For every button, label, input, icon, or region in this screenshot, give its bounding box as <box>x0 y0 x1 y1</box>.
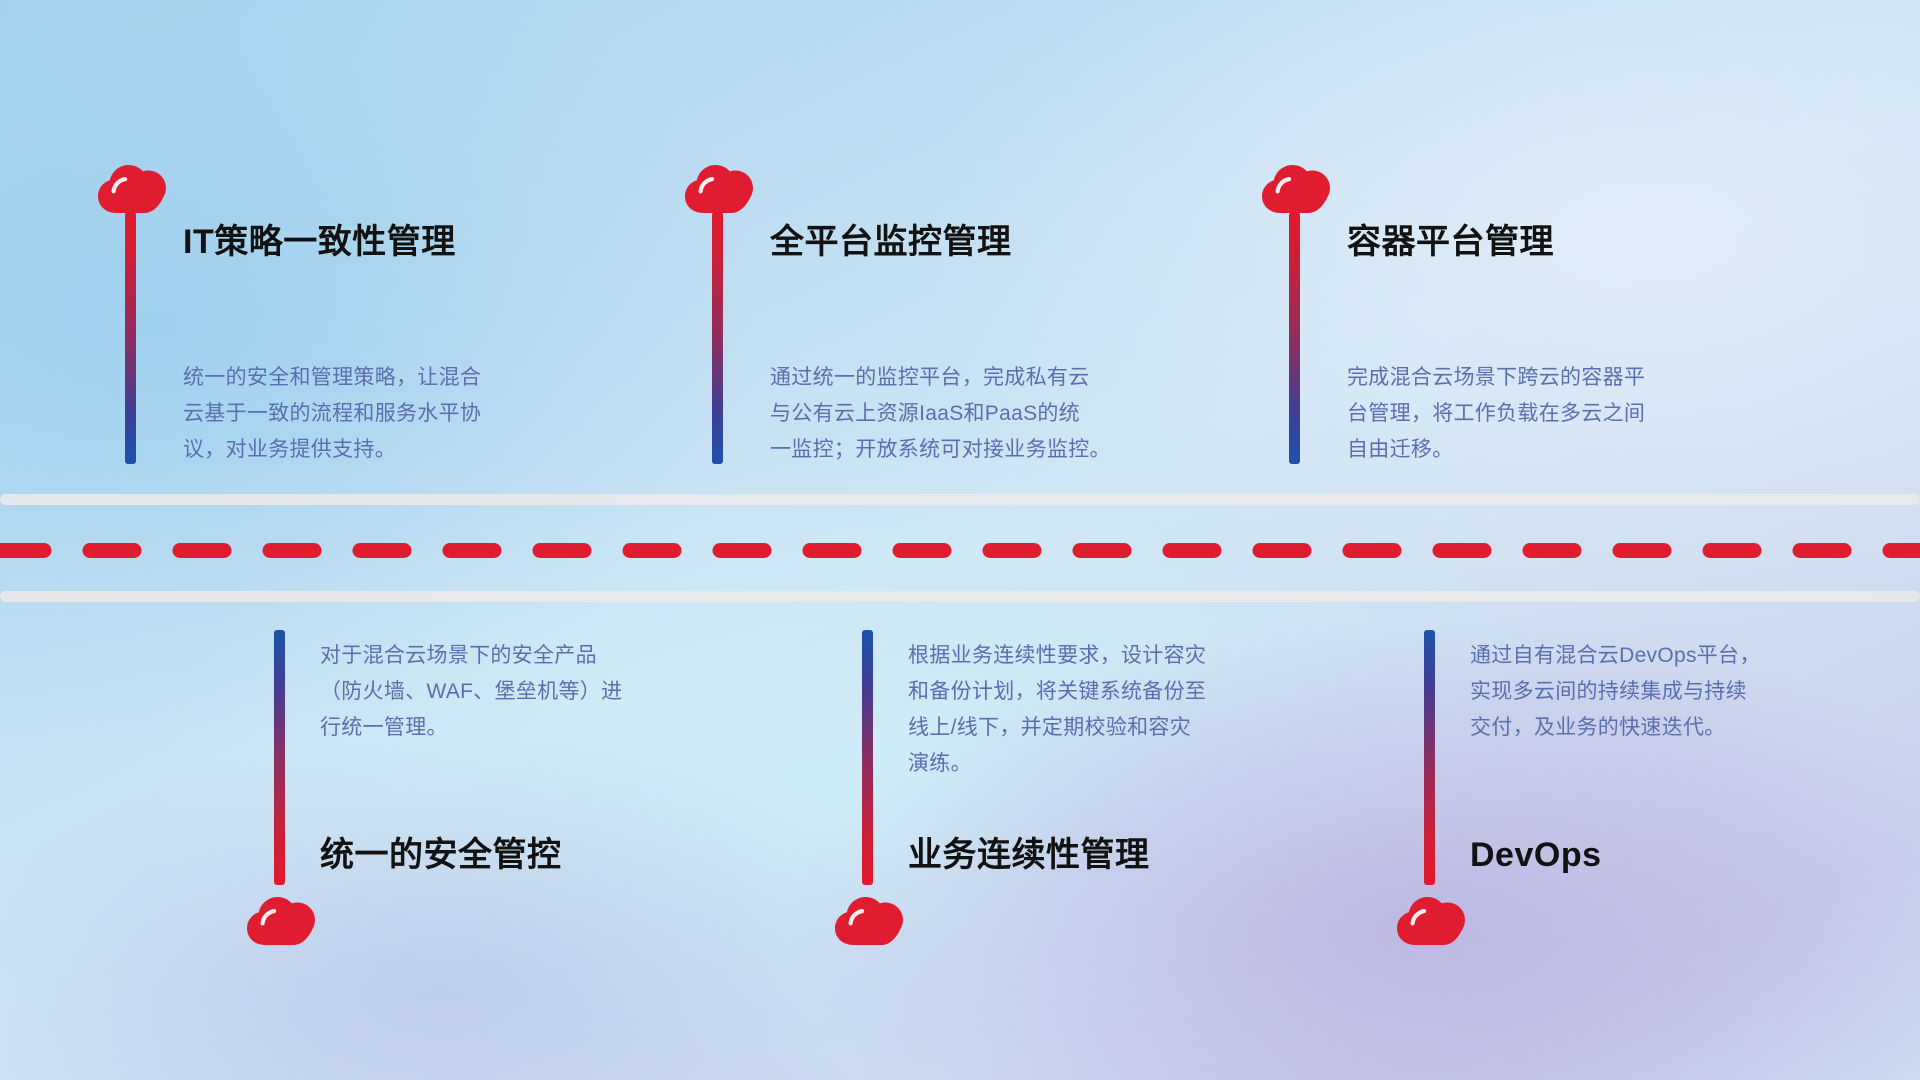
card-body: 通过统一的监控平台，完成私有云 与公有云上资源IaaS和PaaS的统 一监控；开… <box>770 360 1220 468</box>
cloud-pin-icon <box>1260 160 1334 214</box>
cloud-pin-icon <box>683 160 757 214</box>
pin-stem <box>712 212 723 464</box>
infographic-canvas: IT策略一致性管理 统一的安全和管理策略，让混合 云基于一致的流程和服务水平协 … <box>0 0 1920 1080</box>
cloud-pin-icon <box>96 160 170 214</box>
divider-dashed-line <box>0 543 1920 558</box>
card-body: 完成混合云场景下跨云的容器平 台管理，将工作负载在多云之间 自由迁移。 <box>1347 360 1787 468</box>
card-body: 根据业务连续性要求，设计容灾 和备份计划，将关键系统备份至 线上/线下，并定期校… <box>908 638 1338 782</box>
divider-rule-bottom <box>0 591 1920 602</box>
card-body: 对于混合云场景下的安全产品 （防火墙、WAF、堡垒机等）进 行统一管理。 <box>320 638 750 746</box>
card-title: 容器平台管理 <box>1347 225 1554 259</box>
card-title: 统一的安全管控 <box>320 838 562 872</box>
pin-stem <box>274 630 285 885</box>
cloud-pin-icon <box>833 892 907 946</box>
card-body: 通过自有混合云DevOps平台， 实现多云间的持续集成与持续 交付，及业务的快速… <box>1470 638 1900 746</box>
divider-rule-top <box>0 494 1920 505</box>
card-body: 统一的安全和管理策略，让混合 云基于一致的流程和服务水平协 议，对业务提供支持。 <box>183 360 613 468</box>
card-title: 业务连续性管理 <box>908 838 1150 872</box>
card-title: IT策略一致性管理 <box>183 225 456 259</box>
pin-stem <box>125 212 136 464</box>
cloud-pin-icon <box>245 892 319 946</box>
pin-stem <box>1424 630 1435 885</box>
pin-stem <box>862 630 873 885</box>
pin-stem <box>1289 212 1300 464</box>
card-title: 全平台监控管理 <box>770 225 1012 259</box>
cloud-pin-icon <box>1395 892 1469 946</box>
card-title: DevOps <box>1470 838 1602 872</box>
